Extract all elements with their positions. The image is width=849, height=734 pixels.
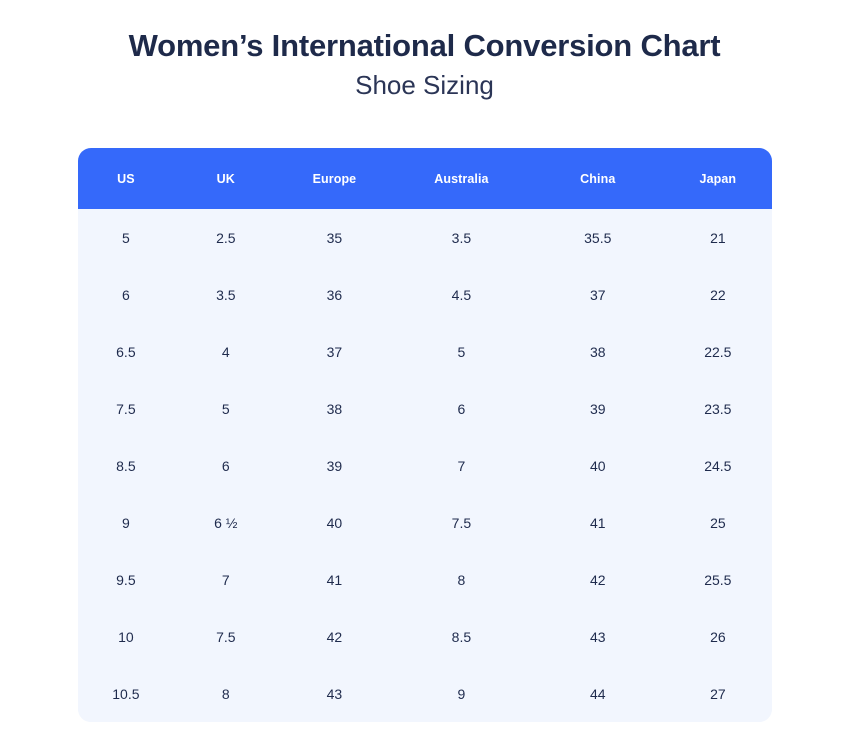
cell-uk: 7 <box>174 551 278 608</box>
cell-us: 5 <box>78 209 174 266</box>
table-header-row: US UK Europe Australia China Japan <box>78 148 772 209</box>
cell-us: 6.5 <box>78 323 174 380</box>
column-header-uk: UK <box>174 148 278 209</box>
column-header-australia: Australia <box>391 148 532 209</box>
cell-uk: 4 <box>174 323 278 380</box>
cell-japan: 23.5 <box>664 380 772 437</box>
cell-china: 39 <box>532 380 664 437</box>
cell-europe: 39 <box>278 437 391 494</box>
cell-uk: 2.5 <box>174 209 278 266</box>
column-header-china: China <box>532 148 664 209</box>
cell-australia: 6 <box>391 380 532 437</box>
conversion-chart-page: Women’s International Conversion Chart S… <box>0 0 849 734</box>
cell-japan: 25 <box>664 494 772 551</box>
cell-australia: 8 <box>391 551 532 608</box>
cell-china: 38 <box>532 323 664 380</box>
cell-china: 42 <box>532 551 664 608</box>
cell-japan: 22.5 <box>664 323 772 380</box>
column-header-japan: Japan <box>664 148 772 209</box>
cell-europe: 42 <box>278 608 391 665</box>
cell-europe: 37 <box>278 323 391 380</box>
cell-uk: 7.5 <box>174 608 278 665</box>
cell-china: 35.5 <box>532 209 664 266</box>
cell-china: 37 <box>532 266 664 323</box>
cell-australia: 4.5 <box>391 266 532 323</box>
cell-japan: 26 <box>664 608 772 665</box>
cell-australia: 5 <box>391 323 532 380</box>
cell-australia: 8.5 <box>391 608 532 665</box>
cell-us: 8.5 <box>78 437 174 494</box>
column-header-us: US <box>78 148 174 209</box>
cell-uk: 3.5 <box>174 266 278 323</box>
cell-uk: 5 <box>174 380 278 437</box>
cell-australia: 7 <box>391 437 532 494</box>
table-row: 8.5 6 39 7 40 24.5 <box>78 437 772 494</box>
table-row: 9 6 ½ 40 7.5 41 25 <box>78 494 772 551</box>
cell-us: 9 <box>78 494 174 551</box>
cell-us: 9.5 <box>78 551 174 608</box>
heading-block: Women’s International Conversion Chart S… <box>0 0 849 102</box>
column-header-europe: Europe <box>278 148 391 209</box>
cell-japan: 21 <box>664 209 772 266</box>
cell-japan: 27 <box>664 665 772 722</box>
cell-australia: 9 <box>391 665 532 722</box>
cell-us: 6 <box>78 266 174 323</box>
table-row: 7.5 5 38 6 39 23.5 <box>78 380 772 437</box>
cell-us: 10 <box>78 608 174 665</box>
page-subtitle: Shoe Sizing <box>0 69 849 102</box>
table-header: US UK Europe Australia China Japan <box>78 148 772 209</box>
table-row: 6 3.5 36 4.5 37 22 <box>78 266 772 323</box>
conversion-table-container: US UK Europe Australia China Japan 5 2.5… <box>78 148 772 722</box>
table-row: 6.5 4 37 5 38 22.5 <box>78 323 772 380</box>
cell-china: 40 <box>532 437 664 494</box>
cell-china: 44 <box>532 665 664 722</box>
page-title: Women’s International Conversion Chart <box>0 28 849 65</box>
cell-uk: 6 <box>174 437 278 494</box>
cell-europe: 35 <box>278 209 391 266</box>
cell-us: 10.5 <box>78 665 174 722</box>
cell-china: 43 <box>532 608 664 665</box>
cell-europe: 41 <box>278 551 391 608</box>
table-row: 10 7.5 42 8.5 43 26 <box>78 608 772 665</box>
size-conversion-table: US UK Europe Australia China Japan 5 2.5… <box>78 148 772 722</box>
cell-uk: 6 ½ <box>174 494 278 551</box>
cell-japan: 25.5 <box>664 551 772 608</box>
table-row: 9.5 7 41 8 42 25.5 <box>78 551 772 608</box>
cell-australia: 3.5 <box>391 209 532 266</box>
cell-australia: 7.5 <box>391 494 532 551</box>
cell-us: 7.5 <box>78 380 174 437</box>
cell-europe: 36 <box>278 266 391 323</box>
cell-europe: 38 <box>278 380 391 437</box>
cell-japan: 24.5 <box>664 437 772 494</box>
cell-japan: 22 <box>664 266 772 323</box>
cell-europe: 40 <box>278 494 391 551</box>
table-row: 10.5 8 43 9 44 27 <box>78 665 772 722</box>
table-row: 5 2.5 35 3.5 35.5 21 <box>78 209 772 266</box>
table-body: 5 2.5 35 3.5 35.5 21 6 3.5 36 4.5 37 22 … <box>78 209 772 722</box>
cell-china: 41 <box>532 494 664 551</box>
cell-europe: 43 <box>278 665 391 722</box>
cell-uk: 8 <box>174 665 278 722</box>
